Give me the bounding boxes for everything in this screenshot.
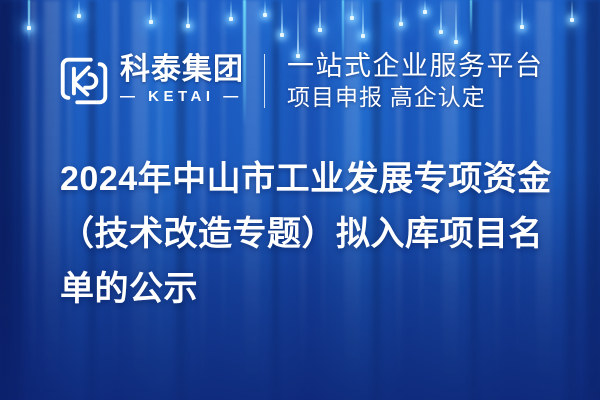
particle-dot: [149, 20, 153, 24]
particle-trail: [362, 0, 364, 34]
particle-dot: [423, 10, 427, 14]
particle-dot: [361, 34, 365, 38]
particle-trail: [440, 0, 442, 30]
tagline-secondary: 项目申报 高企认定: [287, 84, 544, 112]
particle-dot: [454, 40, 458, 44]
header-divider: [264, 54, 265, 108]
particle-trail: [187, 0, 189, 24]
particle-trail: [28, 0, 30, 26]
light-beam: [470, 0, 472, 36]
particle-trail: [424, 0, 426, 10]
particle-dot: [318, 28, 322, 32]
particle-trail: [281, 0, 283, 33]
particle-trail: [571, 0, 573, 18]
particle-trail: [351, 0, 353, 16]
particle-dot: [263, 13, 267, 17]
particle-dot: [570, 18, 574, 22]
particle-trail: [400, 0, 402, 22]
brand-tagline: 一站式企业服务平台 项目申报 高企认定: [287, 51, 544, 112]
particle-trail: [319, 0, 321, 28]
company-name-en: — KETAI —: [120, 88, 244, 107]
brand-logo: 科泰集团 — KETAI —: [56, 53, 244, 109]
particle-trail: [230, 0, 232, 17]
particle-dot: [27, 26, 31, 30]
company-name-cn: 科泰集团: [120, 55, 244, 86]
brand-logo-text: 科泰集团 — KETAI —: [120, 55, 244, 106]
particle-dot: [439, 30, 443, 34]
particle-dot: [399, 22, 403, 26]
light-beam: [28, 0, 30, 44]
particle-dot: [520, 25, 524, 29]
particle-trail: [521, 0, 523, 25]
announcement-poster: 科泰集团 — KETAI — 一站式企业服务平台 项目申报 高企认定 2024年…: [0, 0, 600, 400]
particle-dot: [280, 33, 284, 37]
particle-dot: [350, 16, 354, 20]
ketai-diamond-kp-monogram-icon: [56, 53, 112, 109]
particle-dot: [229, 17, 233, 21]
particle-dot: [77, 14, 81, 18]
particle-trail: [78, 0, 80, 14]
poster-header: 科泰集团 — KETAI — 一站式企业服务平台 项目申报 高企认定: [0, 46, 600, 116]
particle-dot: [186, 24, 190, 28]
particle-trail: [455, 0, 457, 40]
tagline-primary: 一站式企业服务平台: [287, 51, 544, 81]
page-title: 2024年中山市工业发展专项资金（技术改造专题）拟入库项目名单的公示: [60, 152, 576, 317]
particle-trail: [150, 0, 152, 20]
particle-trail: [264, 0, 266, 13]
